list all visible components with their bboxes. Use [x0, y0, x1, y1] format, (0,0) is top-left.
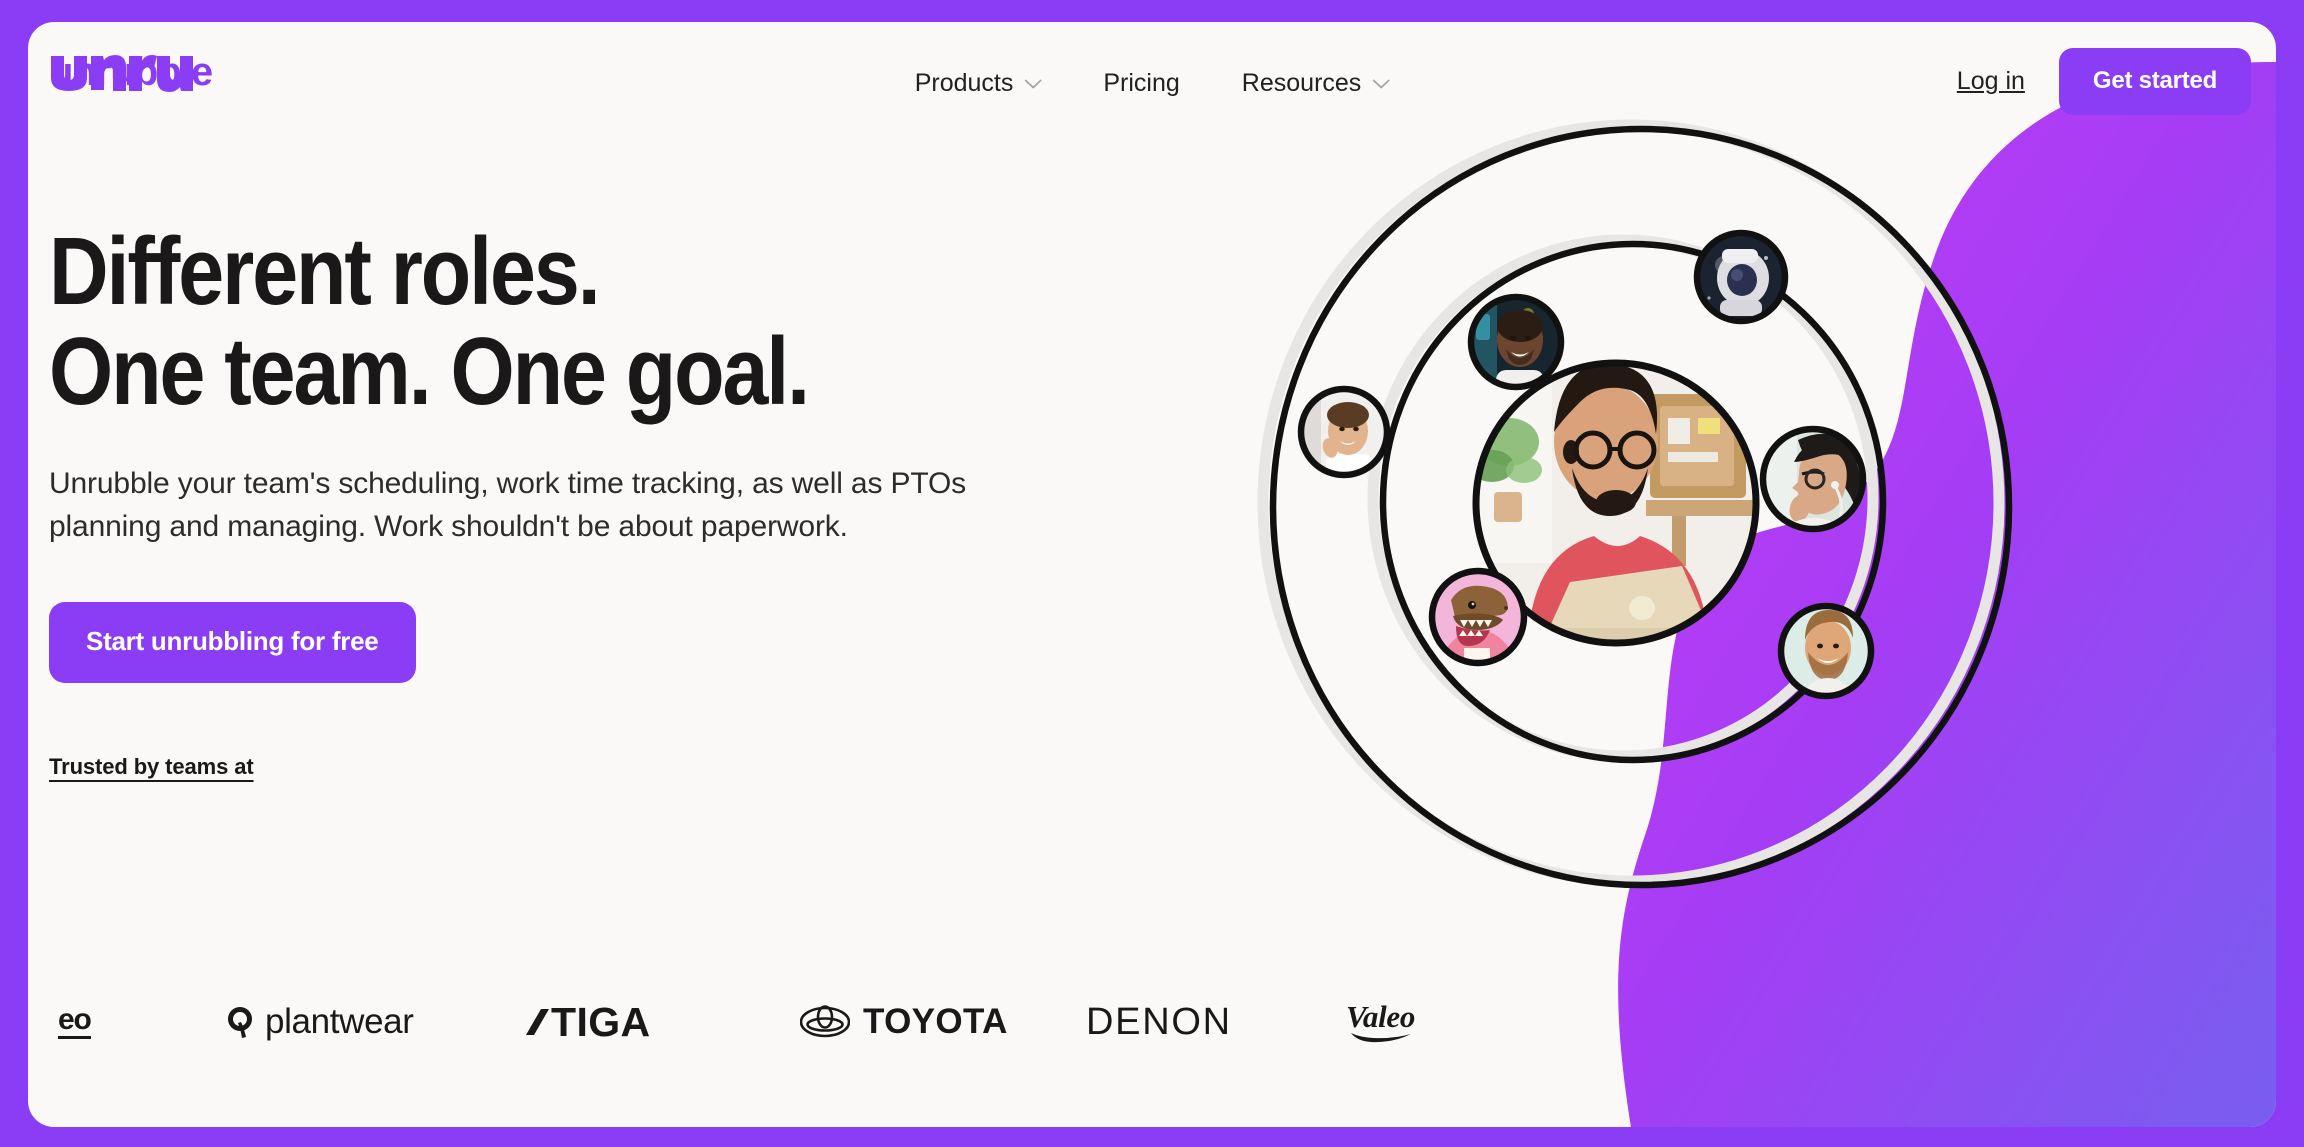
- headline-line-2: One team. One goal.: [49, 322, 1270, 422]
- stiga-slash-icon: [525, 1006, 551, 1038]
- get-started-button[interactable]: Get started: [2059, 48, 2251, 115]
- trusted-by-label: Trusted by teams at: [49, 754, 254, 780]
- start-free-button[interactable]: Start unrubbling for free: [49, 602, 416, 683]
- avatar-man-beard: [1781, 606, 1871, 696]
- chevron-down-icon: [1372, 79, 1389, 89]
- svg-text:unrubble: unrubble: [49, 50, 212, 94]
- headline-line-1: Different roles.: [49, 218, 599, 325]
- logo-plantwear-text: plantwear: [265, 1002, 414, 1042]
- hero-content: Different roles. One team. One goal. Unr…: [49, 222, 1469, 780]
- logo-stiga-text: TIGA: [551, 999, 651, 1046]
- nav-actions: Log in Get started: [1923, 48, 2251, 115]
- page-frame: unrubble Products Pricing Resources: [0, 0, 2304, 1147]
- chevron-down-icon: [1024, 79, 1041, 89]
- nav-item-label: Resources: [1242, 69, 1362, 98]
- plantwear-leaf-icon: [224, 1005, 256, 1039]
- logo-plantwear: plantwear: [224, 990, 414, 1054]
- logo-valeo-text: Valeo: [1346, 1001, 1415, 1032]
- logo-eo: eo: [58, 990, 91, 1054]
- logo-toyota: TOYOTA: [800, 990, 1008, 1054]
- nav-item-label: Pricing: [1103, 69, 1179, 98]
- logo-denon: DENON: [1086, 990, 1232, 1054]
- page-title: Different roles. One team. One goal.: [49, 222, 1270, 422]
- hero-subheading: Unrubble your team's scheduling, work ti…: [49, 462, 1009, 550]
- valeo-swoosh-icon: [1350, 1032, 1412, 1044]
- nav-links: Products Pricing Resources: [915, 69, 1390, 98]
- page-surface: unrubble Products Pricing Resources: [28, 22, 2276, 1127]
- brand-logo[interactable]: unrubble: [49, 50, 225, 94]
- logo-valeo: Valeo: [1346, 990, 1415, 1054]
- logo-toyota-text: TOYOTA: [863, 1002, 1008, 1042]
- login-link[interactable]: Log in: [1923, 67, 2059, 96]
- avatar-astronaut: [1697, 233, 1785, 321]
- trusted-logos-strip: eo plantwear TIGA: [58, 990, 1478, 1054]
- logo-eo-text: eo: [58, 1005, 91, 1039]
- main-navigation: unrubble Products Pricing Resources: [28, 22, 2276, 140]
- unrubble-logo-icon: unrubble: [49, 50, 225, 94]
- nav-item-products[interactable]: Products: [915, 69, 1042, 98]
- logo-stiga: TIGA: [525, 990, 651, 1054]
- nav-item-resources[interactable]: Resources: [1242, 69, 1390, 98]
- logo-denon-text: DENON: [1086, 1001, 1232, 1044]
- nav-item-label: Products: [915, 69, 1014, 98]
- toyota-emblem-icon: [800, 1005, 850, 1039]
- nav-item-pricing[interactable]: Pricing: [1103, 69, 1179, 98]
